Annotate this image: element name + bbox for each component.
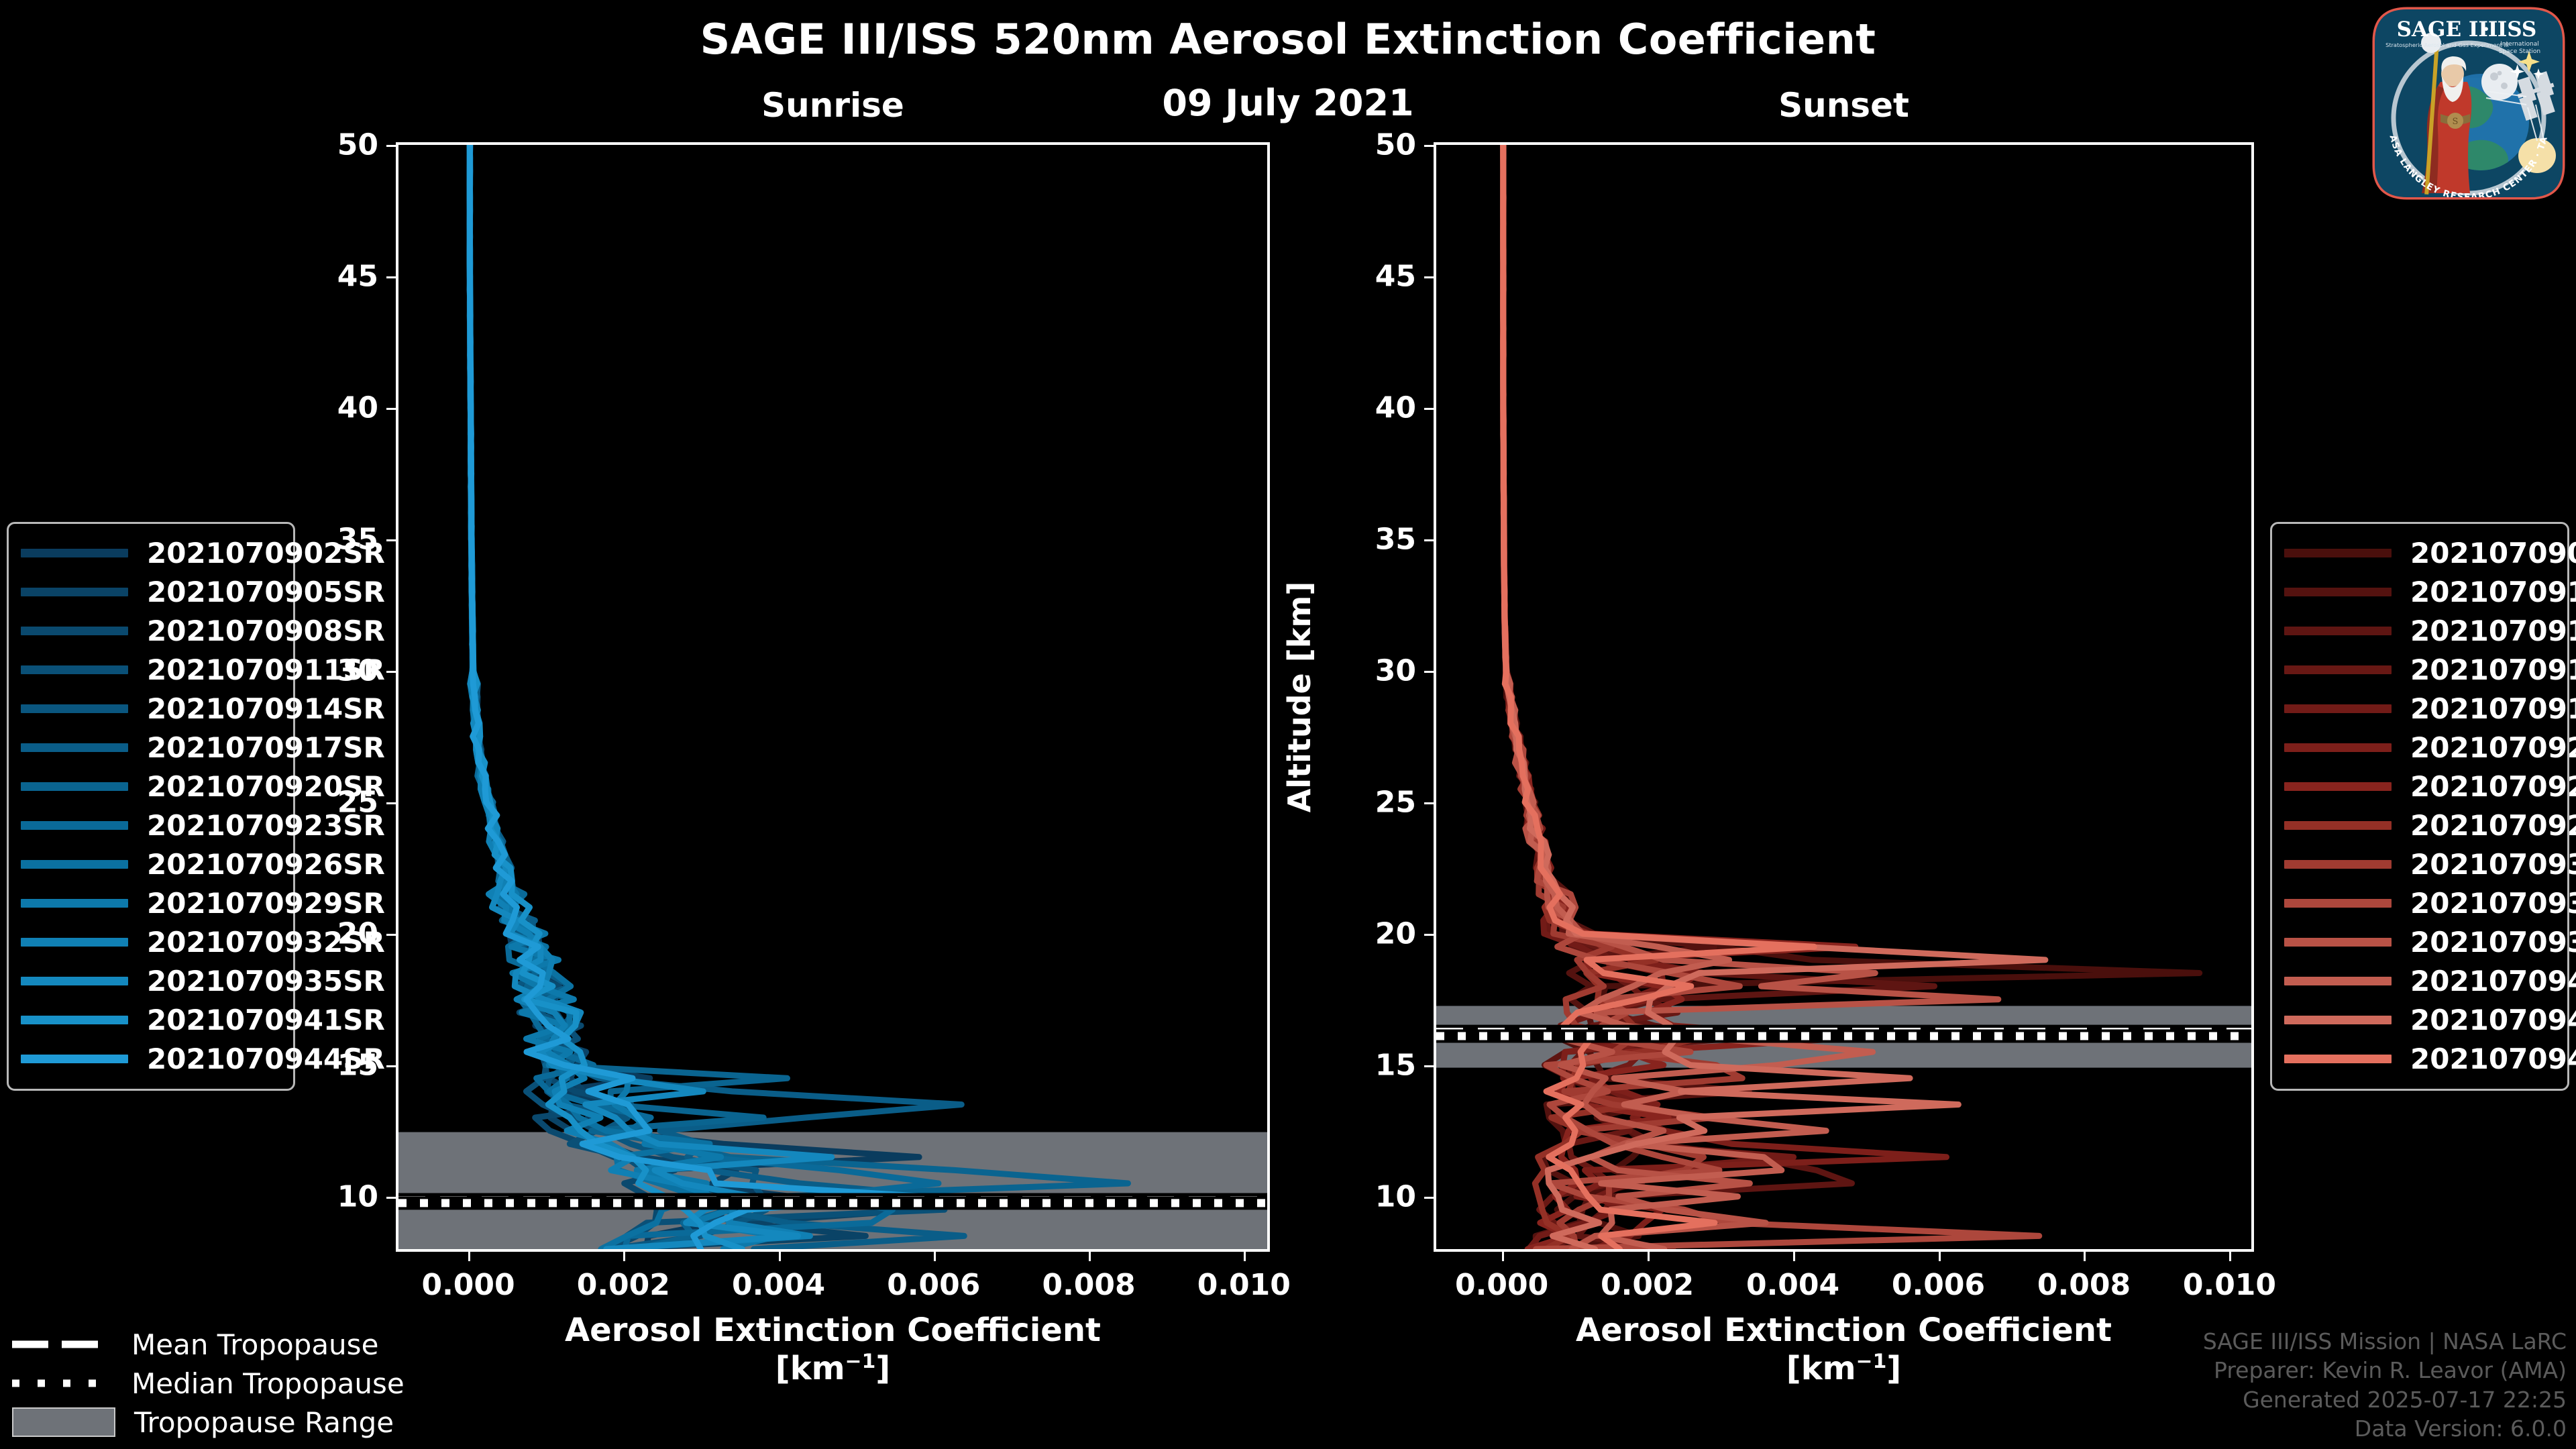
legend-item-label: 2021070944SR	[147, 1042, 385, 1075]
legend-item-label: 2021070917SR	[147, 731, 385, 764]
y-tick-15	[386, 1065, 398, 1067]
x-tick-0.006	[1939, 1249, 1941, 1261]
x-tick-0.002	[623, 1249, 625, 1261]
legend-item-2021070905SR[interactable]: 2021070905SR	[21, 572, 281, 611]
x-axis-title-text-sunset: Aerosol Extinction Coefficient	[1434, 1311, 2254, 1350]
legend-color-swatch	[21, 665, 128, 674]
legend-item-label: 2021070932SR	[147, 926, 385, 959]
legend-item-label: 2021070913SS	[2410, 614, 2576, 647]
legend-item-2021070913SS[interactable]: 2021070913SS	[2284, 611, 2555, 650]
legend-item-label: 2021070922SS	[2410, 731, 2576, 764]
legend-sunrise[interactable]: 2021070902SR2021070905SR2021070908SR2021…	[7, 522, 295, 1091]
credits-block: SAGE III/ISS Mission | NASA LaRC Prepare…	[2203, 1327, 2567, 1444]
legend-item-2021070923SR[interactable]: 2021070923SR	[21, 806, 281, 845]
legend-color-swatch	[21, 1016, 128, 1024]
legend-row-tropopause-range: Tropopause Range	[12, 1403, 361, 1442]
sunset-profile-svg	[1436, 145, 2251, 1249]
dotted-line-icon	[12, 1375, 113, 1392]
credit-line-mission: SAGE III/ISS Mission | NASA LaRC	[2203, 1327, 2567, 1356]
legend-color-swatch	[21, 627, 128, 635]
x-tick-0.006	[934, 1249, 936, 1261]
legend-item-2021070935SR[interactable]: 2021070935SR	[21, 961, 281, 1000]
legend-color-swatch	[2284, 1055, 2392, 1063]
credit-line-version: Data Version: 6.0.0	[2203, 1414, 2567, 1444]
y-tick-25	[386, 802, 398, 804]
patch-dot: ·	[2483, 17, 2490, 42]
legend-color-swatch	[21, 1055, 128, 1063]
legend-item-2021070925SS[interactable]: 2021070925SS	[2284, 767, 2555, 806]
legend-item-2021070937SS[interactable]: 2021070937SS	[2284, 922, 2555, 961]
legend-item-2021070902SR[interactable]: 2021070902SR	[21, 533, 281, 572]
legend-color-swatch	[21, 938, 128, 947]
x-axis-title-text-sunrise: Aerosol Extinction Coefficient	[396, 1311, 1270, 1350]
legend-item-2021070943SS[interactable]: 2021070943SS	[2284, 1000, 2555, 1039]
sage-iii-iss-mission-patch-logo: S SAGE III · ISS Stratospheric Aerosol a…	[2368, 3, 2569, 204]
legend-item-2021070940SS[interactable]: 2021070940SS	[2284, 961, 2555, 1000]
legend-color-swatch	[2284, 743, 2392, 752]
legend-item-label: 2021070925SS	[2410, 770, 2576, 803]
y-tick-20	[386, 934, 398, 936]
legend-item-label: 2021070931SS	[2410, 848, 2576, 881]
legend-item-2021070931SS[interactable]: 2021070931SS	[2284, 845, 2555, 883]
legend-row-mean-tropopause: Mean Tropopause	[12, 1325, 361, 1364]
x-tick-label-0.008: 0.008	[1042, 1268, 1135, 1302]
legend-color-swatch	[2284, 782, 2392, 791]
y-tick-40	[1424, 408, 1436, 410]
legend-item-label: 2021070902SR	[147, 537, 385, 570]
y-tick-label-35: 35	[1375, 522, 1416, 556]
y-tick-label-45: 45	[337, 259, 378, 293]
legend-color-swatch	[2284, 665, 2392, 674]
legend-item-label: 2021070908SR	[147, 614, 385, 647]
legend-item-label: 2021070935SR	[147, 965, 385, 998]
y-tick-label-50: 50	[1375, 128, 1416, 162]
legend-item-2021070920SR[interactable]: 2021070920SR	[21, 767, 281, 806]
x-axis-unit-sunset: [km−1]	[1434, 1350, 2254, 1388]
legend-color-swatch	[21, 743, 128, 752]
y-tick-label-20: 20	[1375, 916, 1416, 951]
plot-area-sunrise	[398, 145, 1267, 1249]
y-tick-45	[1424, 276, 1436, 278]
legend-item-label: 2021070934SS	[2410, 887, 2576, 920]
y-axis-title-sunset: Altitude [km]	[1281, 582, 1318, 813]
legend-color-swatch	[21, 821, 128, 830]
plot-panel-sunset: 1015202530354045500.0000.0020.0040.0060.…	[1434, 142, 2254, 1252]
y-tick-25	[1424, 802, 1436, 804]
y-tick-label-10: 10	[337, 1179, 378, 1214]
patch-iss-text: ISS	[2498, 17, 2537, 42]
legend-item-2021070919SS[interactable]: 2021070919SS	[2284, 689, 2555, 728]
legend-item-2021070901SS[interactable]: 2021070901SS	[2284, 533, 2555, 572]
range-patch-icon	[12, 1407, 115, 1437]
legend-color-swatch	[2284, 588, 2392, 596]
y-tick-label-25: 25	[1375, 785, 1416, 819]
y-tick-30	[1424, 671, 1436, 673]
legend-item-label: 2021070911SR	[147, 653, 385, 686]
x-tick-label-0.008: 0.008	[2037, 1268, 2131, 1302]
y-tick-45	[386, 276, 398, 278]
profile-line-2021070931SS	[1503, 145, 1743, 1249]
legend-color-swatch	[21, 860, 128, 869]
legend-item-label: 2021070940SS	[2410, 965, 2576, 998]
y-tick-40	[386, 408, 398, 410]
legend-item-label: 2021070905SR	[147, 576, 385, 608]
legend-item-2021070934SS[interactable]: 2021070934SS	[2284, 883, 2555, 922]
panel-title-sunset: Sunset	[1434, 86, 2254, 125]
legend-item-2021070922SS[interactable]: 2021070922SS	[2284, 728, 2555, 767]
patch-iss-subtitle-1: International	[2500, 41, 2538, 48]
legend-color-swatch	[21, 704, 128, 713]
legend-item-2021070916SS[interactable]: 2021070916SS	[2284, 650, 2555, 689]
legend-item-2021070928SS[interactable]: 2021070928SS	[2284, 806, 2555, 845]
plot-area-sunset	[1436, 145, 2251, 1249]
legend-row-median-tropopause: Median Tropopause	[12, 1364, 361, 1403]
y-tick-label-10: 10	[1375, 1179, 1416, 1214]
legend-item-2021070911SR[interactable]: 2021070911SR	[21, 650, 281, 689]
x-tick-label-0.004: 0.004	[1746, 1268, 1839, 1302]
legend-label-tropopause-range: Tropopause Range	[134, 1406, 394, 1439]
x-tick-label-0.010: 0.010	[1197, 1268, 1291, 1302]
y-tick-label-30: 30	[1375, 653, 1416, 688]
x-tick-0.008	[2084, 1249, 2086, 1261]
x-tick-label-0.006: 0.006	[1892, 1268, 1985, 1302]
legend-item-2021070908SR[interactable]: 2021070908SR	[21, 611, 281, 650]
x-tick-0.004	[779, 1249, 781, 1261]
x-tick-label-0.010: 0.010	[2183, 1268, 2276, 1302]
legend-item-label: 2021070910SS	[2410, 576, 2576, 608]
legend-sunset[interactable]: 2021070901SS2021070910SS2021070913SS2021…	[2270, 522, 2569, 1091]
legend-color-swatch	[2284, 627, 2392, 635]
legend-item-2021070932SR[interactable]: 2021070932SR	[21, 922, 281, 961]
legend-item-label: 2021070943SS	[2410, 1004, 2576, 1036]
x-tick-label-0.002: 0.002	[577, 1268, 670, 1302]
legend-color-swatch	[2284, 860, 2392, 869]
x-tick-label-0.000: 0.000	[421, 1268, 515, 1302]
y-tick-label-40: 40	[337, 390, 378, 425]
legend-item-2021070917SR[interactable]: 2021070917SR	[21, 728, 281, 767]
legend-item-label: 2021070928SS	[2410, 809, 2576, 842]
legend-item-2021070929SR[interactable]: 2021070929SR	[21, 883, 281, 922]
y-tick-35	[386, 539, 398, 541]
legend-item-label: 2021070929SR	[147, 887, 385, 920]
legend-item-label: 2021070919SS	[2410, 692, 2576, 725]
legend-item-label: 2021070926SR	[147, 848, 385, 881]
legend-item-label: 2021070920SR	[147, 770, 385, 803]
y-tick-35	[1424, 539, 1436, 541]
x-tick-label-0.006: 0.006	[887, 1268, 980, 1302]
legend-color-swatch	[21, 588, 128, 596]
y-tick-50	[386, 145, 398, 147]
x-axis-unit-sunrise: [km−1]	[396, 1350, 1270, 1388]
x-axis-title-sunrise: Aerosol Extinction Coefficient [km−1]	[396, 1311, 1270, 1387]
legend-item-2021070914SR[interactable]: 2021070914SR	[21, 689, 281, 728]
legend-item-label: 2021070914SR	[147, 692, 385, 725]
x-axis-title-sunset: Aerosol Extinction Coefficient [km−1]	[1434, 1311, 2254, 1387]
x-tick-0.004	[1793, 1249, 1795, 1261]
y-tick-label-15: 15	[1375, 1048, 1416, 1082]
y-tick-50	[1424, 145, 1436, 147]
patch-iss-subtitle-2: Space Station	[2499, 48, 2540, 55]
y-tick-label-50: 50	[337, 128, 378, 162]
legend-item-label: 2021070941SR	[147, 1004, 385, 1036]
figure-canvas: SAGE III/ISS 520nm Aerosol Extinction Co…	[0, 0, 2576, 1449]
legend-item-2021070944SR[interactable]: 2021070944SR	[21, 1039, 281, 1078]
legend-label-mean-tropopause: Mean Tropopause	[131, 1328, 378, 1361]
x-tick-0.008	[1089, 1249, 1091, 1261]
y-tick-label-40: 40	[1375, 390, 1416, 425]
patch-sage-subtitle: Stratospheric Aerosol and Gas Experiment…	[2385, 42, 2509, 48]
x-tick-0.000	[468, 1249, 470, 1261]
credit-line-preparer: Preparer: Kevin R. Leavor (AMA)	[2203, 1356, 2567, 1385]
legend-color-swatch	[21, 977, 128, 985]
legend-item-2021070910SS[interactable]: 2021070910SS	[2284, 572, 2555, 611]
legend-item-label: 2021070916SS	[2410, 653, 2576, 686]
x-tick-0.000	[1502, 1249, 1504, 1261]
x-tick-label-0.002: 0.002	[1601, 1268, 1694, 1302]
credit-line-generated: Generated 2025-07-17 22:25	[2203, 1385, 2567, 1415]
y-tick-label-45: 45	[1375, 259, 1416, 293]
legend-item-label: 2021070946SS	[2410, 1042, 2576, 1075]
legend-color-swatch	[21, 899, 128, 908]
legend-item-label: 2021070901SS	[2410, 537, 2576, 570]
legend-color-swatch	[2284, 549, 2392, 557]
legend-color-swatch	[21, 549, 128, 557]
x-tick-0.002	[1648, 1249, 1650, 1261]
page-title: SAGE III/ISS 520nm Aerosol Extinction Co…	[0, 15, 2576, 64]
x-tick-label-0.000: 0.000	[1455, 1268, 1548, 1302]
legend-item-2021070926SR[interactable]: 2021070926SR	[21, 845, 281, 883]
x-tick-0.010	[1244, 1249, 1246, 1261]
profile-line-2021070935SR	[470, 145, 832, 1249]
x-tick-0.010	[2229, 1249, 2231, 1261]
legend-color-swatch	[2284, 704, 2392, 713]
dashed-line-icon	[12, 1336, 113, 1353]
y-tick-30	[386, 671, 398, 673]
plot-panel-sunrise: 1015202530354045500.0000.0020.0040.0060.…	[396, 142, 1270, 1252]
sunrise-profile-svg	[398, 145, 1267, 1249]
legend-color-swatch	[2284, 899, 2392, 908]
y-tick-20	[1424, 934, 1436, 936]
y-tick-10	[1424, 1197, 1436, 1199]
svg-text:S: S	[2453, 117, 2459, 127]
legend-color-swatch	[2284, 977, 2392, 985]
legend-color-swatch	[2284, 821, 2392, 830]
x-tick-label-0.004: 0.004	[732, 1268, 825, 1302]
legend-item-2021070941SR[interactable]: 2021070941SR	[21, 1000, 281, 1039]
legend-item-label: 2021070923SR	[147, 809, 385, 842]
legend-tropopause: Mean Tropopause Median Tropopause Tropop…	[12, 1325, 361, 1442]
legend-color-swatch	[2284, 938, 2392, 947]
legend-color-swatch	[2284, 1016, 2392, 1024]
y-tick-10	[386, 1197, 398, 1199]
legend-item-2021070946SS[interactable]: 2021070946SS	[2284, 1039, 2555, 1078]
legend-label-median-tropopause: Median Tropopause	[131, 1367, 405, 1400]
panel-title-sunrise: Sunrise	[396, 86, 1270, 125]
y-tick-15	[1424, 1065, 1436, 1067]
legend-item-label: 2021070937SS	[2410, 926, 2576, 959]
legend-color-swatch	[21, 782, 128, 791]
